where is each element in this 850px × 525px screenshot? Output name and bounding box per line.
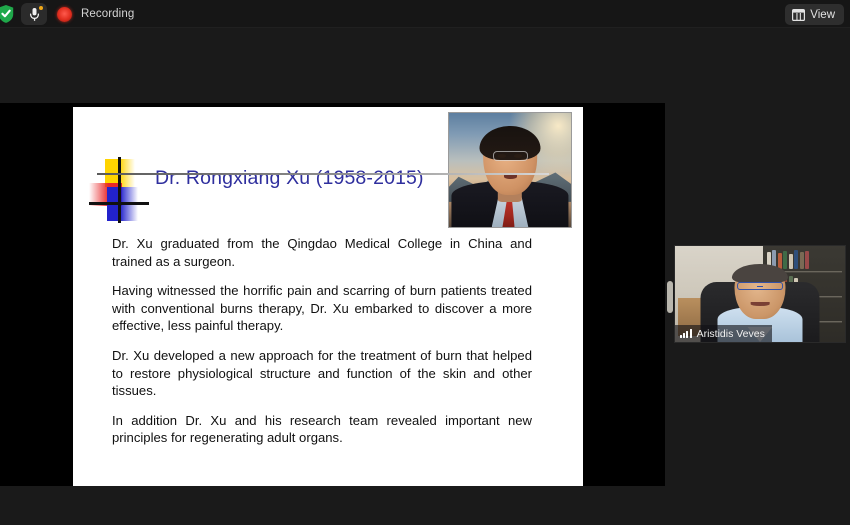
slide-paragraph: In addition Dr. Xu and his research team… — [112, 412, 532, 447]
title-underline-rule — [97, 173, 549, 175]
view-button[interactable]: View — [785, 4, 844, 25]
green-shield-check-icon[interactable] — [0, 4, 15, 24]
top-bar-left-group: Recording — [0, 0, 134, 28]
meeting-top-bar: Recording View — [0, 0, 850, 28]
slide-paragraph: Dr. Xu developed a new approach for the … — [112, 347, 532, 400]
slide-body-text: Dr. Xu graduated from the Qingdao Medica… — [112, 235, 532, 447]
participant-name: Aristidis Veves — [697, 328, 765, 340]
panel-resize-handle[interactable] — [667, 281, 673, 313]
view-button-label: View — [810, 9, 835, 21]
recording-dot-icon — [57, 7, 72, 22]
microphone-icon — [29, 7, 40, 22]
shared-slide[interactable]: Dr. Rongxiang Xu (1958-2015) Dr. Xu grad… — [73, 107, 583, 486]
microphone-button[interactable] — [21, 3, 47, 25]
signal-bars-icon — [680, 329, 692, 338]
mic-status-dot-icon — [39, 6, 43, 10]
view-layout-grid-icon — [792, 9, 805, 21]
slide-title-row: Dr. Rongxiang Xu (1958-2015) — [87, 155, 507, 227]
powerpoint-color-squares-decoration-icon — [89, 157, 151, 223]
slide-paragraph: Having witnessed the horrific pain and s… — [112, 282, 532, 335]
participant-name-bar: Aristidis Veves — [675, 325, 772, 342]
recording-label: Recording — [81, 8, 134, 20]
slide-title: Dr. Rongxiang Xu (1958-2015) — [155, 167, 424, 190]
zoom-meeting-window: Recording View — [0, 0, 850, 525]
slide-paragraph: Dr. Xu graduated from the Qingdao Medica… — [112, 235, 532, 270]
participant-video-tile[interactable]: Aristidis Veves — [674, 245, 846, 343]
